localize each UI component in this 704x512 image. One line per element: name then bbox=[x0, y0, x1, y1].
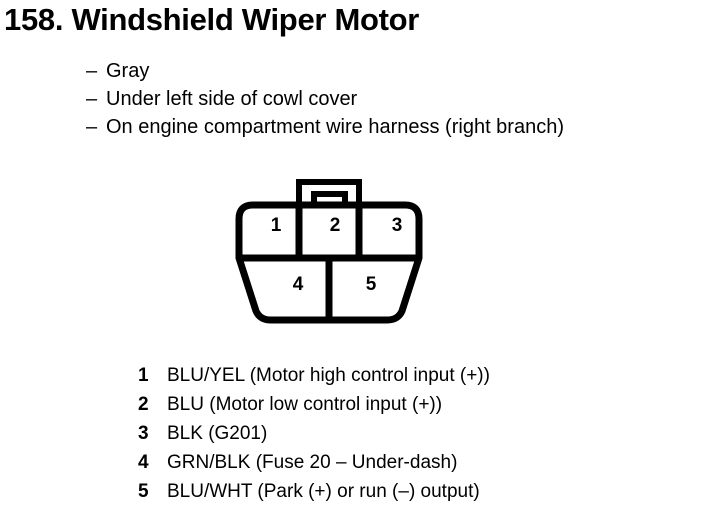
connector-pin-1-number: 1 bbox=[264, 215, 288, 237]
pinout-legend: 1 BLU/YEL (Motor high control input (+))… bbox=[138, 361, 490, 506]
pinout-row-index: 2 bbox=[138, 390, 167, 419]
pinout-row-index: 1 bbox=[138, 361, 167, 390]
description-text: On engine compartment wire harness (righ… bbox=[106, 113, 564, 141]
pinout-row: 4 GRN/BLK (Fuse 20 – Under-dash) bbox=[138, 448, 490, 477]
connector-pin-3-number: 3 bbox=[385, 215, 409, 237]
pinout-row-description: BLK (G201) bbox=[167, 419, 267, 448]
dash-icon: – bbox=[86, 85, 106, 113]
pinout-row-index: 4 bbox=[138, 448, 167, 477]
description-item: – Gray bbox=[86, 57, 564, 85]
pinout-row: 2 BLU (Motor low control input (+)) bbox=[138, 390, 490, 419]
connector-pin-2-number: 2 bbox=[323, 215, 347, 237]
pinout-row: 3 BLK (G201) bbox=[138, 419, 490, 448]
dash-icon: – bbox=[86, 57, 106, 85]
connector-pin-5-number: 5 bbox=[359, 274, 383, 296]
description-list: – Gray – Under left side of cowl cover –… bbox=[86, 57, 564, 141]
connector-pin-4-number: 4 bbox=[286, 274, 310, 296]
page-title: 158. Windshield Wiper Motor bbox=[4, 2, 419, 38]
pinout-row: 1 BLU/YEL (Motor high control input (+)) bbox=[138, 361, 490, 390]
pinout-row-index: 5 bbox=[138, 477, 167, 506]
connector-diagram: 1 2 3 4 5 bbox=[222, 172, 442, 332]
pinout-row-description: BLU/WHT (Park (+) or run (–) output) bbox=[167, 477, 480, 506]
description-item: – On engine compartment wire harness (ri… bbox=[86, 113, 564, 141]
pinout-row-description: GRN/BLK (Fuse 20 – Under-dash) bbox=[167, 448, 457, 477]
description-text: Under left side of cowl cover bbox=[106, 85, 357, 113]
pinout-row: 5 BLU/WHT (Park (+) or run (–) output) bbox=[138, 477, 490, 506]
dash-icon: – bbox=[86, 113, 106, 141]
pinout-row-description: BLU/YEL (Motor high control input (+)) bbox=[167, 361, 490, 390]
connector-outline-svg bbox=[222, 172, 442, 332]
pinout-row-index: 3 bbox=[138, 419, 167, 448]
pinout-row-description: BLU (Motor low control input (+)) bbox=[167, 390, 442, 419]
description-item: – Under left side of cowl cover bbox=[86, 85, 564, 113]
connector-pinout-page: 158. Windshield Wiper Motor – Gray – Und… bbox=[0, 0, 704, 512]
description-text: Gray bbox=[106, 57, 149, 85]
